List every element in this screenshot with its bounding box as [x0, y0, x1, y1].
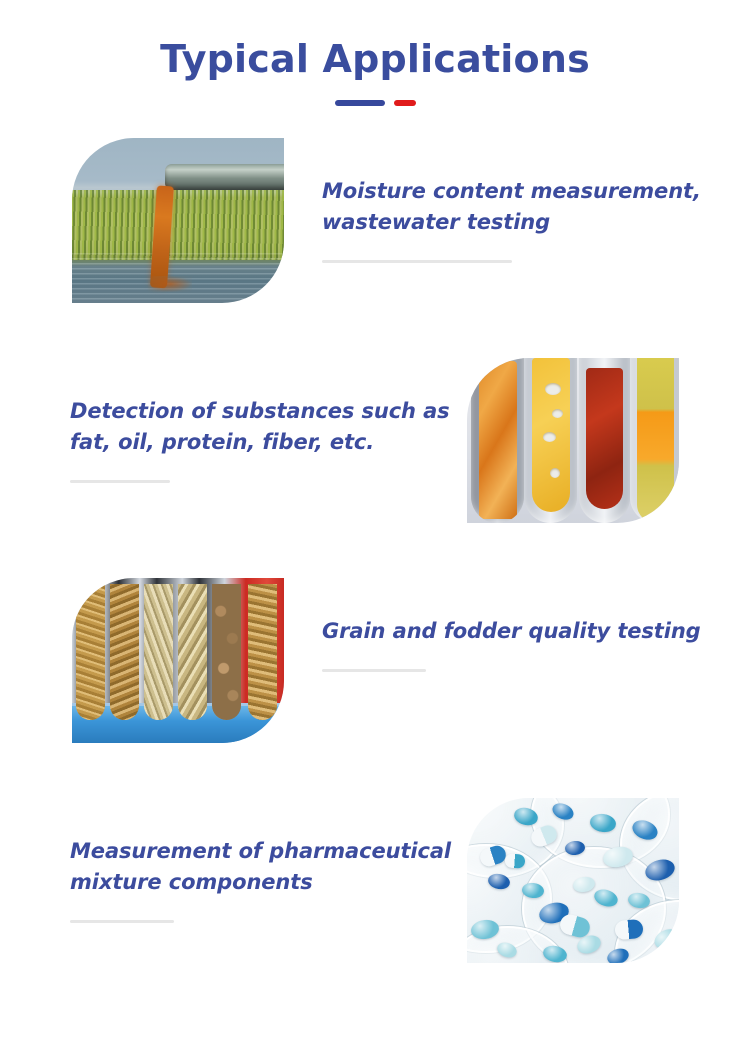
caption-separator	[70, 920, 174, 923]
title-accent-rule-blue	[335, 100, 385, 106]
application-caption-text: Detection of substances such as fat, oil…	[70, 396, 470, 458]
caption-separator	[70, 480, 170, 483]
grass-layer	[72, 190, 284, 259]
caption-separator	[322, 669, 426, 672]
page-title: Typical Applications	[0, 38, 750, 82]
test-tube-egg-oil	[630, 358, 679, 523]
application-caption: Moisture content measurement, wastewater…	[322, 176, 722, 263]
application-row: Grain and fodder quality testing	[0, 578, 750, 798]
splash	[148, 276, 192, 292]
test-tube-meat	[579, 358, 630, 523]
application-row: Moisture content measurement, wastewater…	[0, 138, 750, 358]
grain-tube	[248, 584, 277, 719]
grain-sample-test-tubes-photo	[72, 578, 284, 743]
grain-tube	[212, 584, 241, 719]
wastewater-pipe-discharge-photo	[72, 138, 284, 303]
page-header: Typical Applications	[0, 0, 750, 106]
application-caption-text: Grain and fodder quality testing	[322, 616, 722, 647]
test-tube-cheese	[524, 358, 577, 523]
title-accent-rule-red	[394, 100, 416, 106]
application-caption: Measurement of pharmaceutical mixture co…	[70, 836, 470, 923]
photo-surface	[467, 358, 679, 523]
application-row: Detection of substances such as fat, oil…	[0, 358, 750, 578]
application-caption: Detection of substances such as fat, oil…	[70, 396, 470, 483]
applications-list: Moisture content measurement, wastewater…	[0, 138, 750, 1018]
photo-surface	[72, 138, 284, 303]
grain-tube	[178, 584, 207, 719]
photo-surface	[72, 578, 284, 743]
photo-surface	[467, 798, 679, 963]
grain-tube	[144, 584, 173, 719]
application-caption-text: Moisture content measurement, wastewater…	[322, 176, 722, 238]
capsule	[505, 853, 526, 868]
grain-tube	[110, 584, 139, 719]
application-caption-text: Measurement of pharmaceutical mixture co…	[70, 836, 470, 898]
grain-tube	[76, 584, 105, 719]
test-tube-bacon	[471, 358, 524, 523]
pills-in-petri-dishes-photo	[467, 798, 679, 963]
title-accent-rules	[0, 100, 750, 106]
caption-separator	[322, 260, 512, 263]
food-sample-test-tubes-photo	[467, 358, 679, 523]
application-caption: Grain and fodder quality testing	[322, 616, 722, 672]
application-row: Measurement of pharmaceutical mixture co…	[0, 798, 750, 1018]
pipe-icon	[165, 164, 284, 190]
